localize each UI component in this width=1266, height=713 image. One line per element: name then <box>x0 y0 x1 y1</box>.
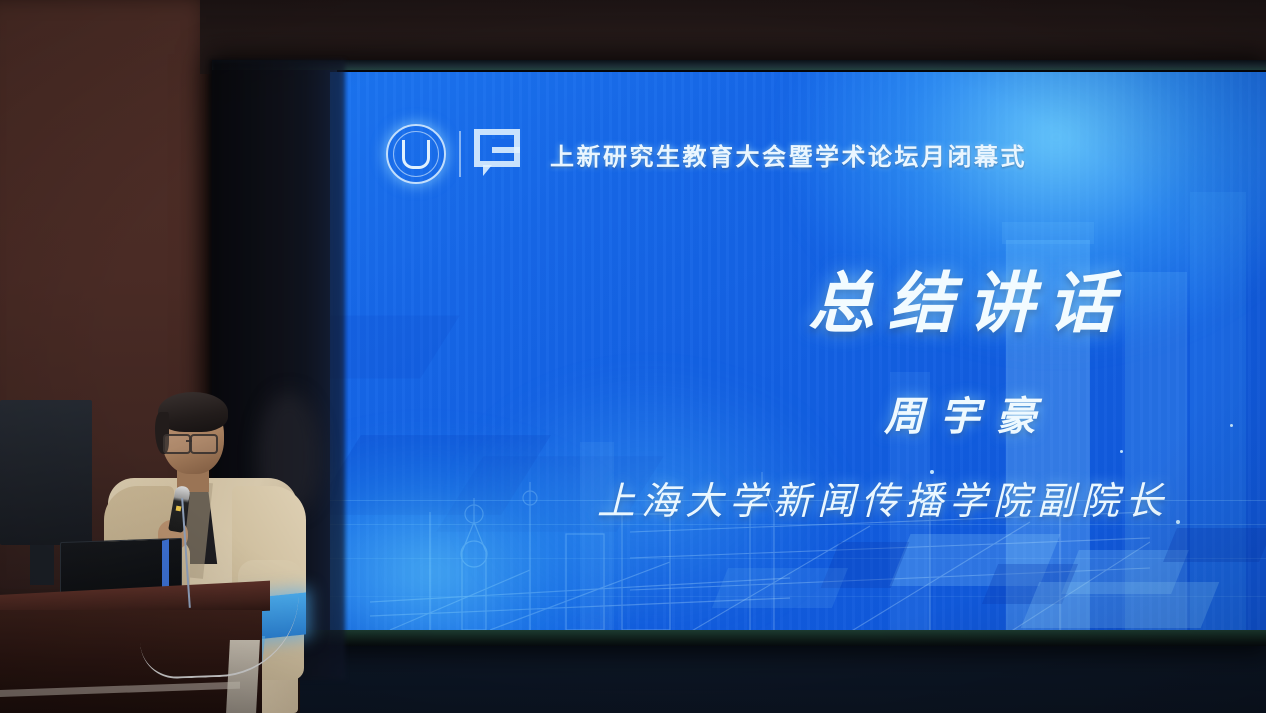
microphone-led <box>176 506 182 512</box>
speech-bubble-icon <box>474 129 526 179</box>
presentation-slide: 上新研究生教育大会暨学术论坛月闭幕式 总结讲话 周宇豪 上海大学新闻传播学院副院… <box>330 72 1266 632</box>
glasses-lens-left <box>163 434 191 454</box>
slide-main-title: 总结讲话 <box>330 250 1266 346</box>
glasses-bridge <box>186 440 192 442</box>
screen-bezel-top <box>212 60 1266 70</box>
glasses-lens-right <box>190 434 218 454</box>
sparkle-dot <box>1120 450 1123 453</box>
slide-speaker-affiliation: 上海大学新闻传播学院副院长 <box>330 470 1266 525</box>
presentation-photo-scene: 上新研究生教育大会暨学术论坛月闭幕式 总结讲话 周宇豪 上海大学新闻传播学院副院… <box>0 0 1266 713</box>
monitor-rear <box>0 400 92 545</box>
screen-bezel-bottom <box>300 630 1266 646</box>
slide-speaker-name: 周宇豪 <box>330 384 1266 442</box>
slide-header: 上新研究生教育大会暨学术论坛月闭幕式 <box>386 124 1027 184</box>
laptop-hinge <box>162 539 169 590</box>
logo-divider <box>459 131 461 177</box>
slide-header-title: 上新研究生教育大会暨学术论坛月闭幕式 <box>550 137 1027 172</box>
monitor-stand <box>30 545 54 585</box>
shanghai-university-seal-icon <box>386 124 446 184</box>
